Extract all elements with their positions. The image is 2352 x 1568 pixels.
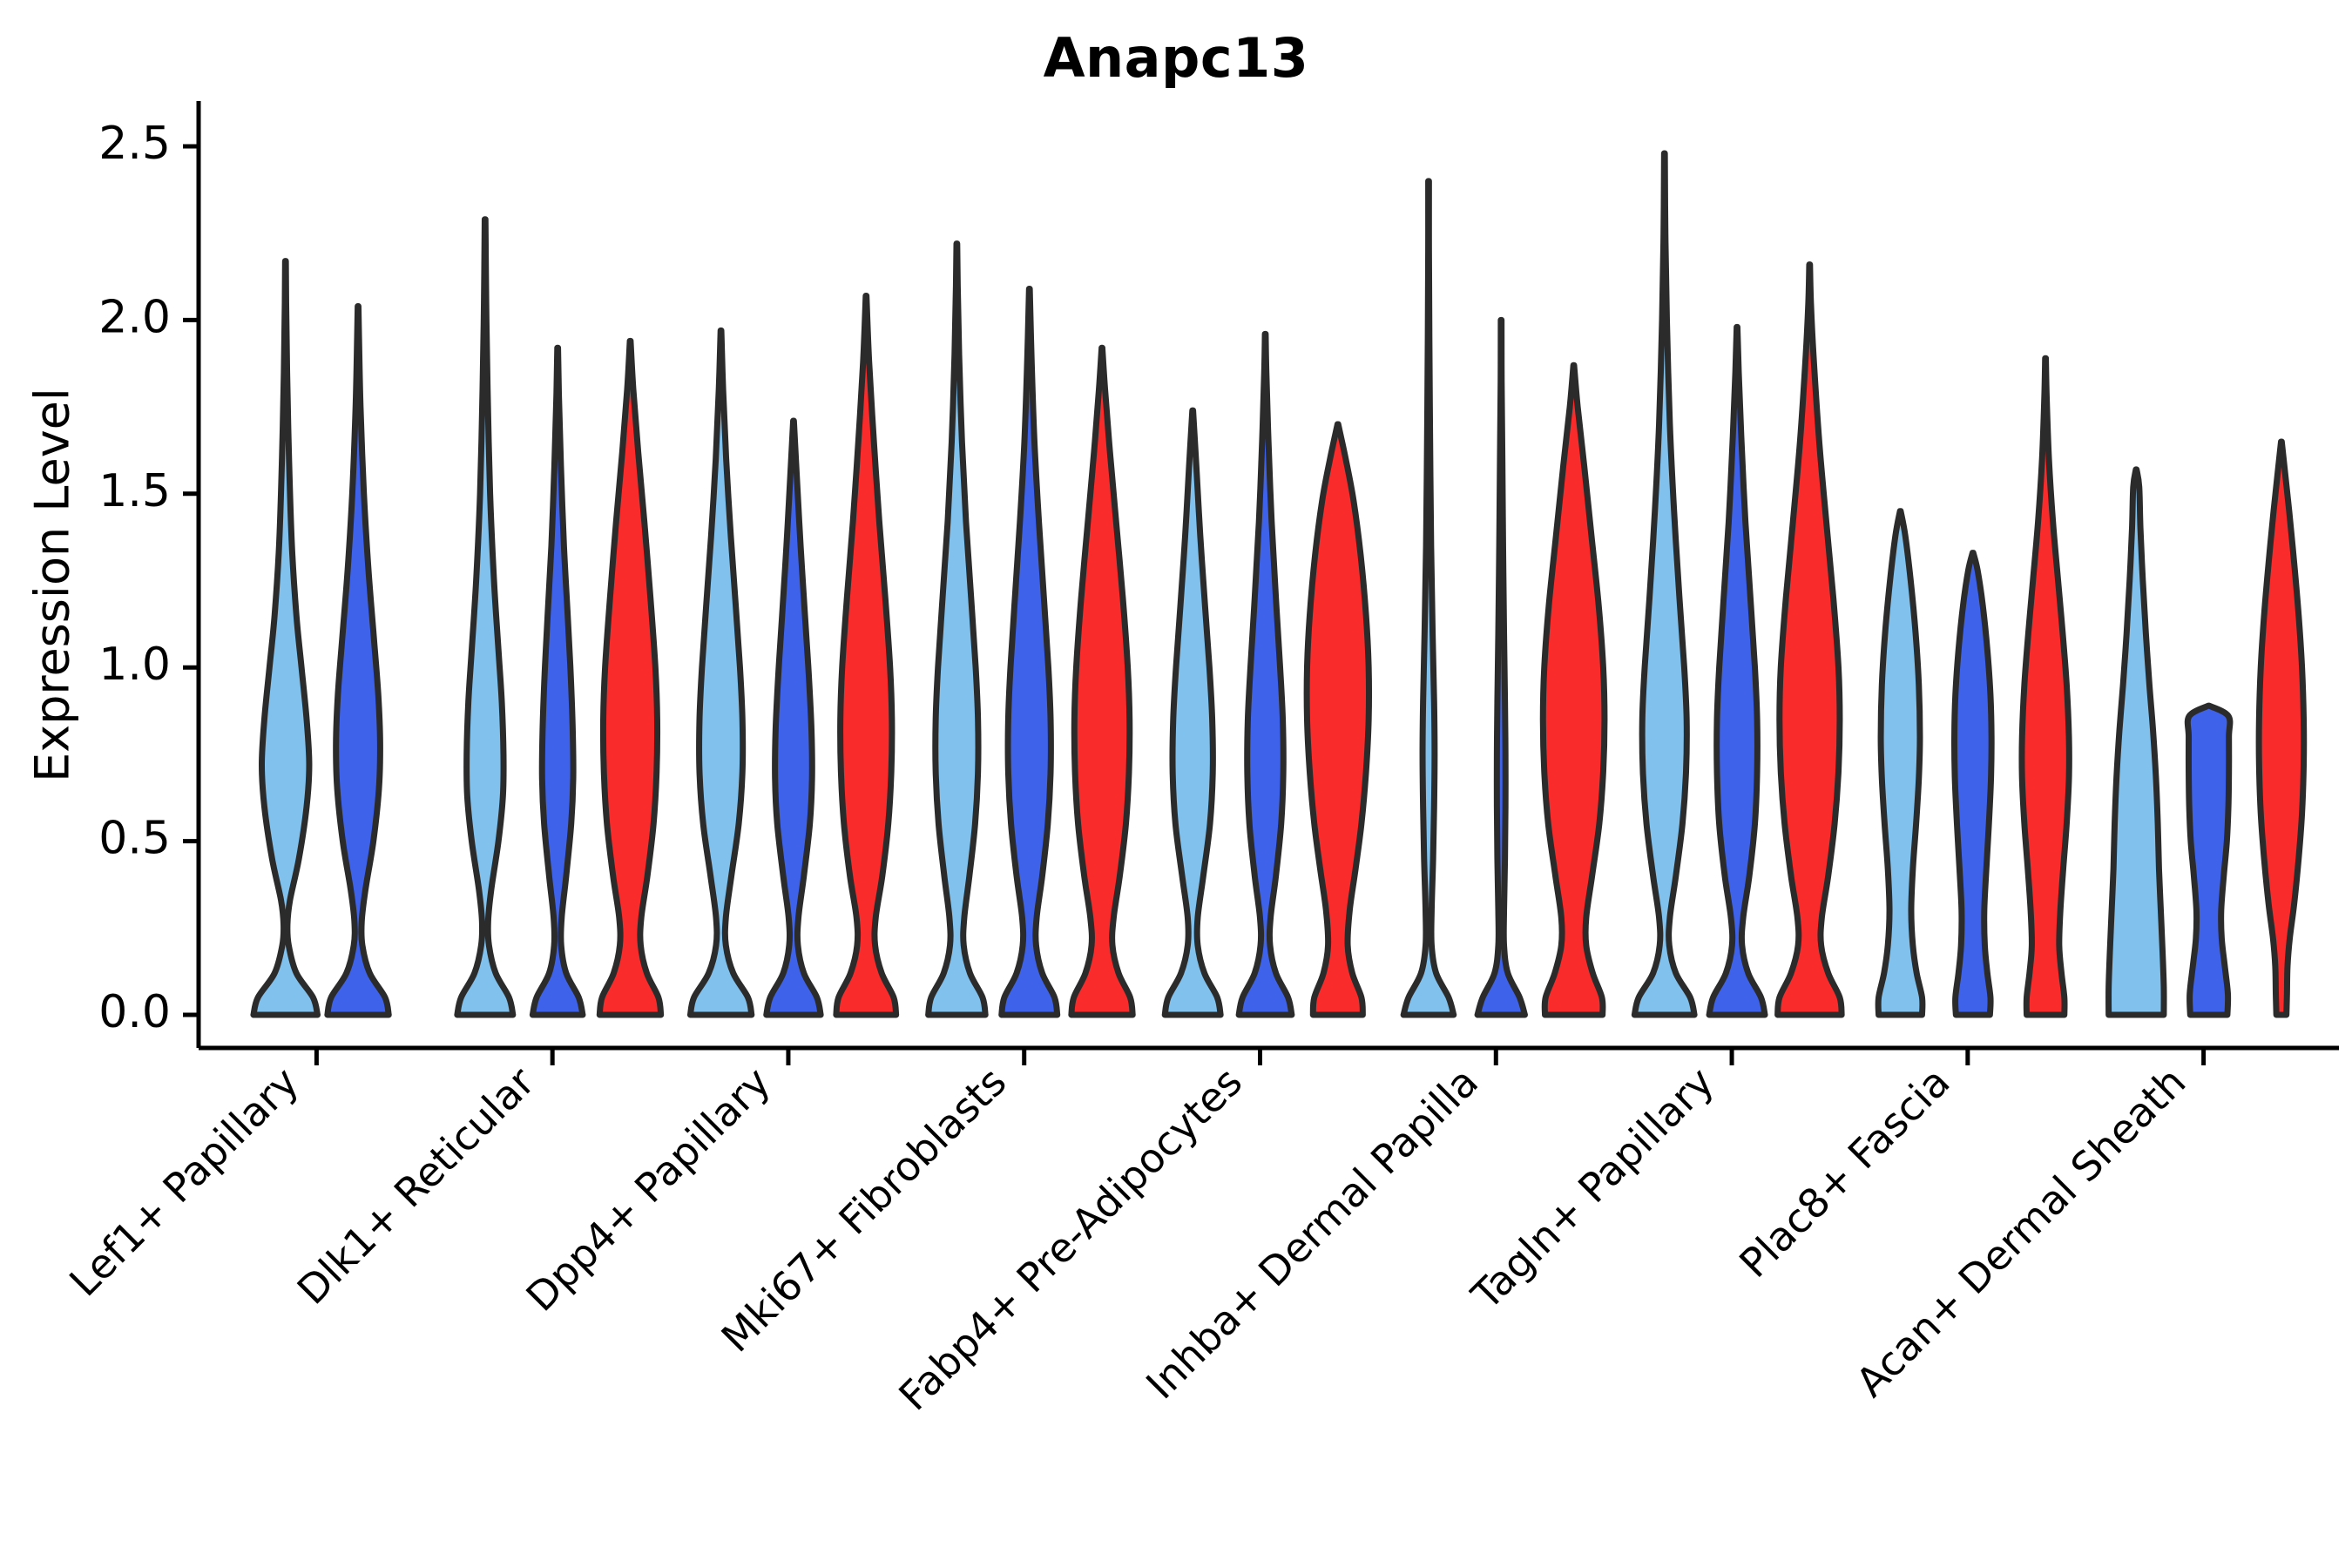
violin-blue-7 [1955,553,1992,1015]
violin-blue-6 [1709,327,1765,1015]
violin-red-6 [1778,265,1842,1015]
chart-canvas: 0.00.51.01.52.02.5Lef1+ PapillaryDlk1+ R… [0,0,2352,1568]
violin-light_blue-7 [1878,511,1923,1015]
x-tick-label-0: Lef1+ Papillary [60,1058,308,1306]
violin-light_blue-6 [1634,153,1694,1015]
violin-blue-8 [2187,706,2230,1015]
violin-light_blue-2 [690,330,751,1015]
violin-light_blue-8 [2109,470,2164,1015]
y-tick-label: 0.0 [98,986,171,1038]
violin-blue-3 [1002,289,1058,1015]
violin-red-2 [836,295,896,1015]
violin-red-5 [1543,365,1605,1015]
violin-light_blue-3 [929,244,986,1015]
violin-red-7 [2022,358,2069,1015]
y-tick-label: 1.0 [98,639,171,691]
y-tick-label: 2.0 [98,291,171,343]
violin-blue-4 [1239,334,1292,1015]
x-tick-label-1: Dlk1+ Reticular [288,1058,544,1314]
x-tick-label-2: Dpp4+ Papillary [517,1058,780,1321]
violin-blue-2 [767,421,821,1015]
violin-light_blue-5 [1403,181,1454,1015]
violin-red-1 [599,341,660,1015]
violin-red-8 [2259,442,2304,1015]
y-tick-label: 1.5 [98,465,171,517]
x-tick-label-6: Tagln+ Papillary [1462,1058,1723,1320]
violin-red-4 [1307,424,1369,1015]
violin-light_blue-0 [253,261,318,1015]
y-tick-label: 2.5 [98,118,171,170]
violin-blue-1 [532,348,583,1015]
violin-blue-5 [1477,320,1524,1015]
x-tick-label-7: Plac8+ Fascia [1730,1058,1958,1287]
y-tick-label: 0.5 [98,813,171,865]
violin-light_blue-1 [457,220,513,1015]
violin-blue-0 [328,306,389,1015]
violin-plot-figure: Anapc13 Expression Level 0.00.51.01.52.0… [0,0,2352,1568]
violin-red-3 [1071,348,1132,1015]
violin-light_blue-4 [1165,410,1220,1015]
